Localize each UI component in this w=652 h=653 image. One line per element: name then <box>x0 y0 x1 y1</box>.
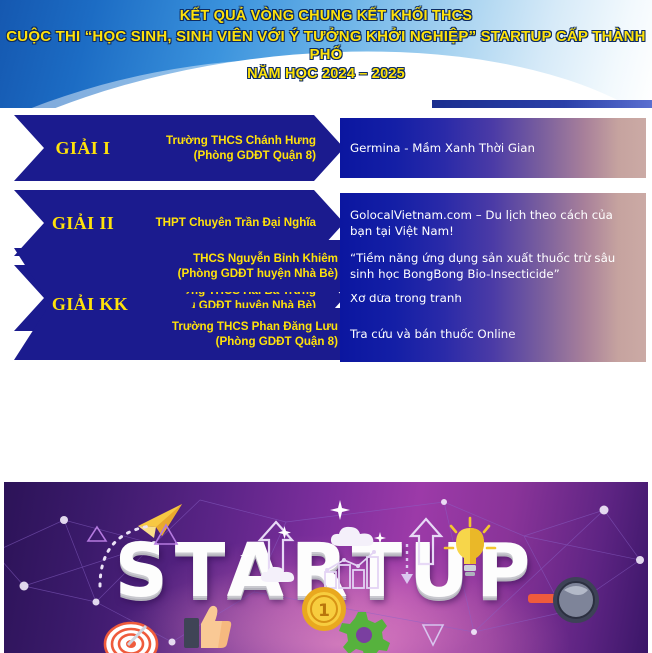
school-name: Trường THCS Chánh Hưng (Phòng GDĐT Quận … <box>144 115 320 181</box>
school-name-line-1: Trường THCS Phan Đăng Lưu <box>172 319 338 334</box>
school-name-line-1: THPT Chuyên Trần Đại Nghĩa <box>156 215 316 230</box>
down-arrow-dotted-icon <box>398 542 416 586</box>
title-header: KẾT QUẢ VÒNG CHUNG KẾT KHỐI THCS CUỘC TH… <box>0 0 652 108</box>
sparkle-icon <box>330 500 350 520</box>
project-title: “Tiềm năng ứng dụng sản xuất thuốc trừ s… <box>350 250 636 283</box>
school-name-line-2: (Phòng GDĐT huyện Nhà Bè) <box>178 266 338 281</box>
school-name-line-2: (Phòng GDĐT Quận 8) <box>216 334 338 349</box>
school-name-line-2: (Phòng GDĐT Quận 8) <box>194 148 316 163</box>
header-accent-strip <box>432 100 652 108</box>
svg-text:1: 1 <box>318 601 330 621</box>
sparkle-icon <box>240 550 251 561</box>
startup-banner: STARTUP 1 <box>4 482 648 653</box>
gear-icon <box>334 610 390 653</box>
triangle-outline-icon <box>86 524 108 544</box>
consolation-school-block: THCS Nguyễn Bỉnh Khiêm (Phòng GDĐT huyện… <box>120 240 344 292</box>
project-bar: Tra cứu và bán thuốc Online <box>340 306 646 362</box>
triangle-outline-icon <box>152 522 180 548</box>
school-name: Trường THCS Phan Đăng Lưu (Phòng GDĐT Qu… <box>172 308 338 360</box>
school-name: THCS Nguyễn Bỉnh Khiêm (Phòng GDĐT huyện… <box>178 240 338 292</box>
consolation-block: GIẢI KK THCS Nguyễn Bỉnh Khiêm (Phòng GD… <box>0 240 652 368</box>
target-icon <box>102 614 160 653</box>
project-title: Germina - Mầm Xanh Thời Gian <box>350 140 535 156</box>
cloud-icon <box>328 524 378 550</box>
header-title-block: KẾT QUẢ VÒNG CHUNG KẾT KHỐI THCS CUỘC TH… <box>0 8 652 84</box>
header-line-3: NĂM HỌC 2024 – 2025 <box>0 66 652 84</box>
project-title: Tra cứu và bán thuốc Online <box>350 326 515 342</box>
cloud-icon <box>258 564 298 586</box>
magnifier-icon <box>528 574 604 636</box>
school-name-line-1: Trường THCS Chánh Hưng <box>166 133 316 148</box>
consolation-prize-label: GIẢI KK <box>30 248 150 360</box>
consolation-school-block: Trường THCS Phan Đăng Lưu (Phòng GDĐT Qu… <box>120 308 344 360</box>
project-bar: Germina - Mầm Xanh Thời Gian <box>340 118 646 178</box>
header-line-1: KẾT QUẢ VÒNG CHUNG KẾT KHỐI THCS <box>0 8 652 26</box>
award-row: GIẢI I Trường THCS Chánh Hưng (Phòng GDĐ… <box>0 115 652 181</box>
bar-chart-icon <box>322 548 384 590</box>
header-line-2: CUỘC THI “HỌC SINH, SINH VIÊN VỚI Ý TƯỞN… <box>0 28 652 65</box>
sparkle-icon <box>278 526 291 539</box>
project-bar: “Tiềm năng ứng dụng sản xuất thuốc trừ s… <box>340 238 646 294</box>
thumbs-up-icon <box>182 604 232 650</box>
prize-label: GIẢI I <box>22 115 144 181</box>
school-name-line-1: THCS Nguyễn Bỉnh Khiêm <box>193 251 338 266</box>
project-title: GolocalVietnam.com – Du lịch theo cách c… <box>350 207 636 240</box>
sparkle-icon <box>374 532 386 544</box>
triangle-outline-icon <box>420 622 446 648</box>
lightbulb-icon <box>442 516 498 578</box>
